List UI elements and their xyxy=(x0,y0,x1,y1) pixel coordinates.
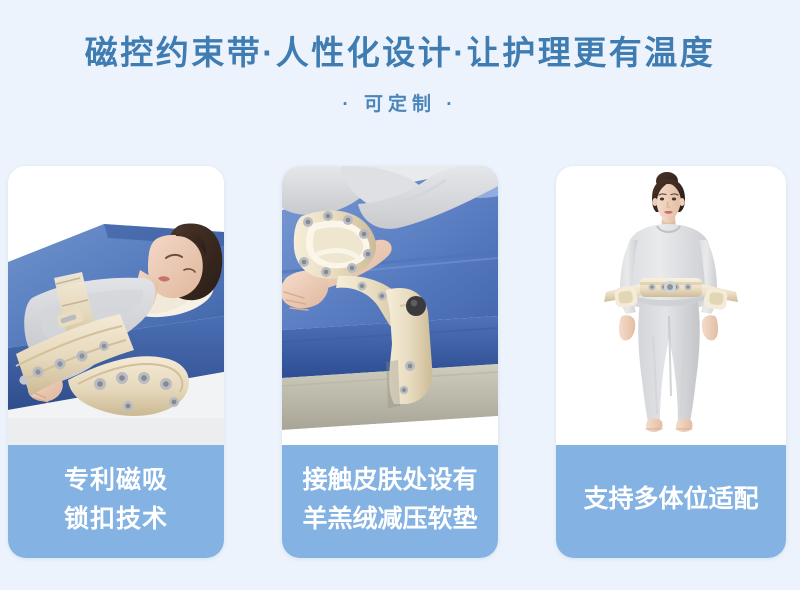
illustration-patient-lying-icon xyxy=(8,166,224,445)
illustration-standing-woman-icon xyxy=(556,166,786,445)
illustration-wrist-restraint-icon xyxy=(282,166,498,445)
caption-line-1: 专利磁吸 xyxy=(64,461,168,500)
feature-card-multi-position[interactable]: 支持多体位适配 xyxy=(556,166,786,558)
feature-card-patent-magnetic-lock[interactable]: 专利磁吸 锁扣技术 xyxy=(8,166,224,558)
caption-line-2: 羊羔绒减压软垫 xyxy=(302,500,477,539)
caption-line-1: 接触皮肤处设有 xyxy=(302,461,477,500)
card-photo-standing-woman xyxy=(556,166,786,445)
feature-card-row: 专利磁吸 锁扣技术 xyxy=(8,166,792,558)
card-caption-patent-magnetic-lock: 专利磁吸 锁扣技术 xyxy=(8,445,224,558)
caption-line-2: 锁扣技术 xyxy=(64,500,168,539)
caption-line-1: 支持多体位适配 xyxy=(583,480,758,519)
card-photo-patient-lying xyxy=(8,166,224,445)
feature-card-fleece-pad[interactable]: 接触皮肤处设有 羊羔绒减压软垫 xyxy=(282,166,498,558)
page-title: 磁控约束带·人性化设计·让护理更有温度 xyxy=(0,34,800,73)
card-photo-wrist-restraint xyxy=(282,166,498,445)
card-caption-multi-position: 支持多体位适配 xyxy=(556,445,786,558)
page-subtitle: · 可定制 · xyxy=(0,89,800,116)
card-caption-fleece-pad: 接触皮肤处设有 羊羔绒减压软垫 xyxy=(282,445,498,558)
page-header: 磁控约束带·人性化设计·让护理更有温度 · 可定制 · xyxy=(0,0,800,116)
